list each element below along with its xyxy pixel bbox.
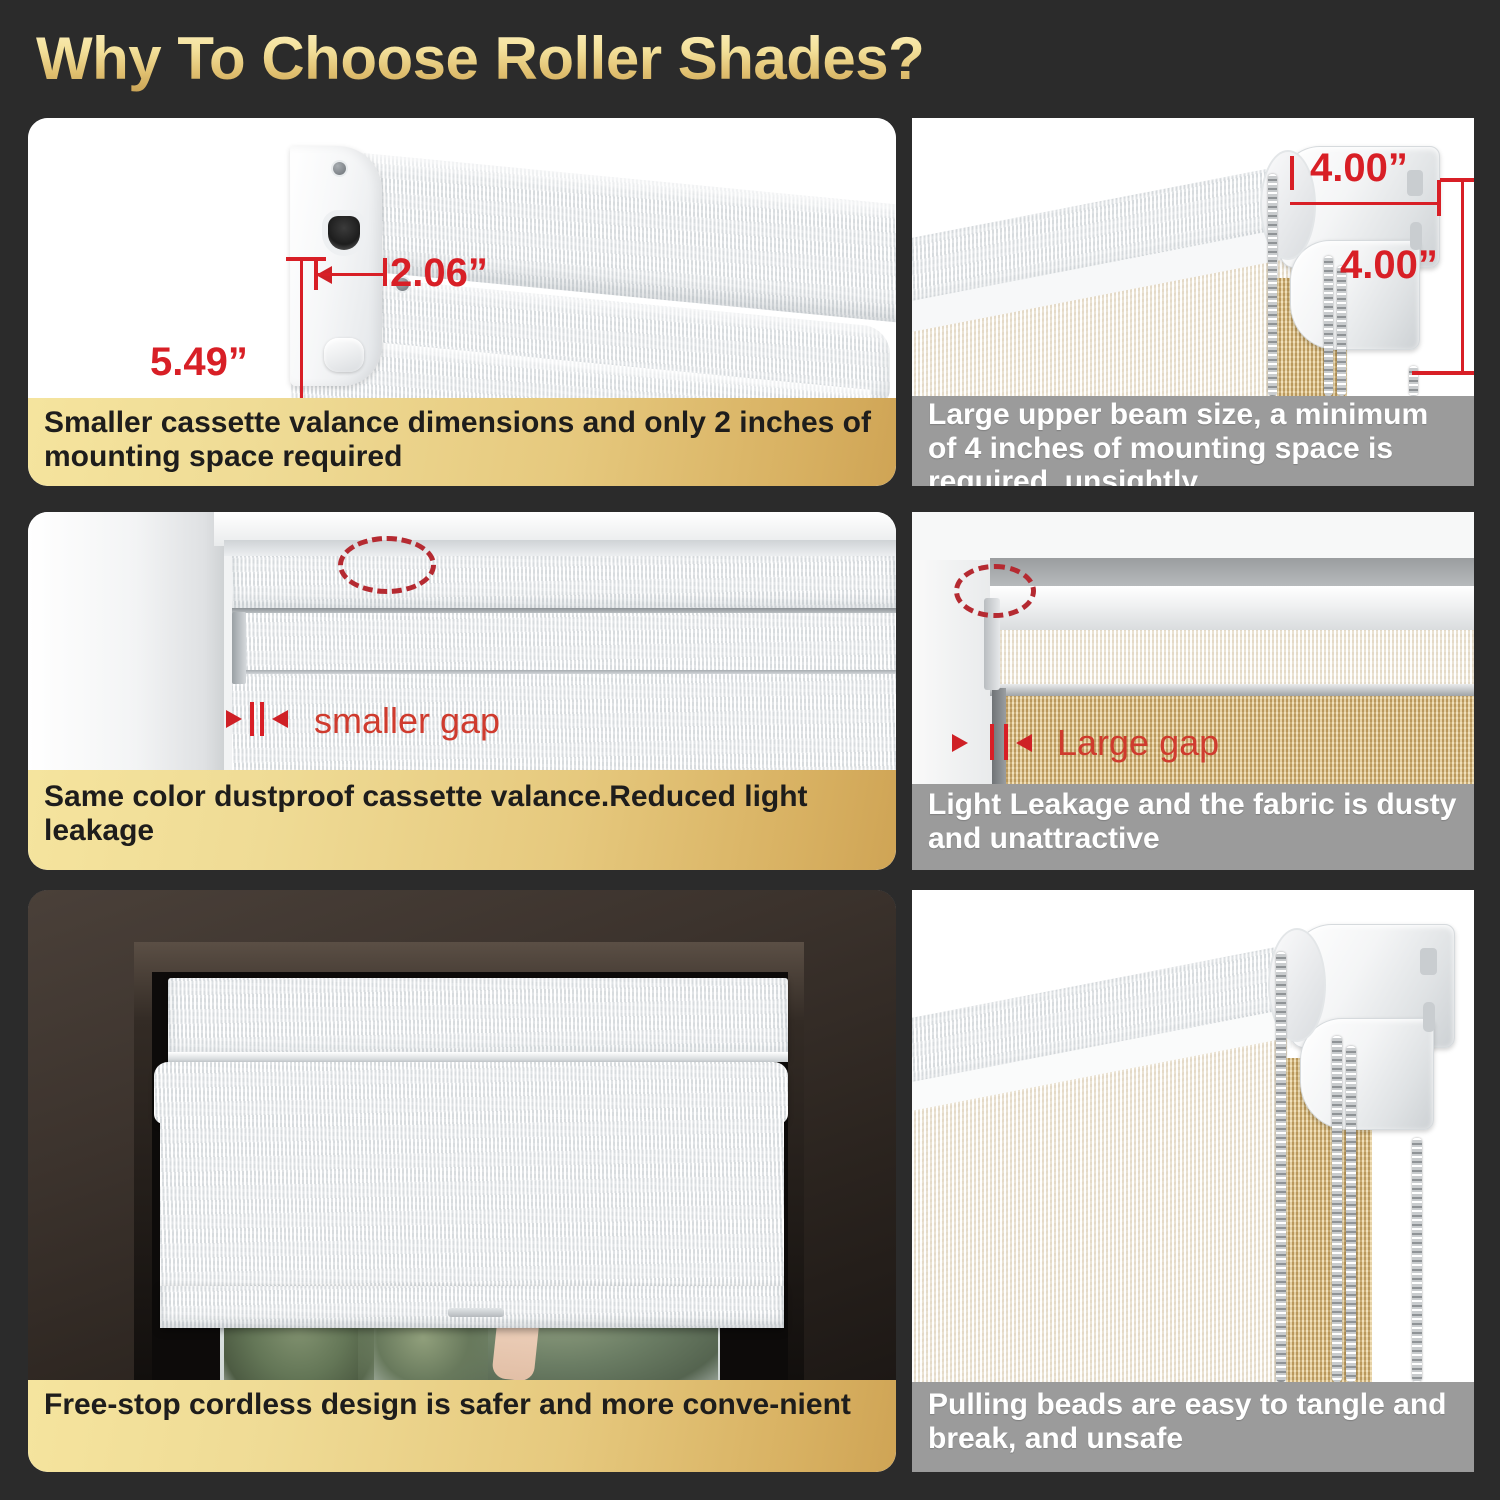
smaller-gap-label: smaller gap [314,700,500,742]
caption-pulling-beads: Pulling beads are easy to tangle and bre… [912,1382,1474,1472]
beam-dim-width-label: 4.00” [1310,146,1408,191]
leak-gap-arrow-left [952,734,968,752]
beads-bead-chain-2 [1332,1036,1342,1382]
window-frame-left [28,512,224,770]
valance-rail-mid [232,613,896,673]
leak-roller-tube [990,586,1474,634]
photo-dustproof-valance: smaller gap [28,512,896,770]
caption-large-upper-beam: Large upper beam size, a minimum of 4 in… [912,396,1474,486]
beads-bead-chain-4 [1412,1138,1422,1382]
beam-bead-chain-1 [1268,174,1277,396]
dim-width-tick-right [383,258,387,286]
beam-dim-height-tick-top [1440,178,1474,182]
gap-arrow-left [226,710,242,728]
dim-width-label: 2.06” [390,251,488,296]
leak-gap-tick-b [1004,724,1008,760]
shade-valance-cassette [168,978,788,1060]
beam-dim-height-label: 4.00” [1340,243,1438,288]
gap-tick-b [260,702,264,736]
valance-rail-top [232,556,896,608]
page-title: Why To Choose Roller Shades? [36,24,924,93]
beam-dim-width-tick-left [1290,156,1294,190]
beam-dim-width-tick-right [1437,180,1441,216]
photo-pulling-beads [912,890,1474,1382]
valance-bottom-bracket [324,338,364,372]
leak-cream-fabric [994,630,1474,688]
infographic-root: Why To Choose Roller Shades? 2.06” [0,0,1500,1500]
shade-bottom-rail [160,1286,784,1328]
caption-text: Pulling beads are easy to tangle and bre… [928,1388,1458,1455]
shade-roller-bar [154,1062,788,1124]
photo-large-upper-beam: 4.00” 4.00” [912,118,1474,396]
leak-gap-arrow-right [1016,734,1032,752]
beam-dim-height-line [1461,178,1464,374]
valance-clutch-slot [328,216,360,250]
large-gap-label: Large gap [1057,722,1219,764]
smaller-gap-highlight-ellipse [338,536,436,594]
caption-text: Smaller cassette valance dimensions and … [44,406,880,473]
beads-bead-chain-3 [1346,1046,1356,1382]
panel-large-upper-beam: 4.00” 4.00” Large upper beam size, a min… [912,118,1474,486]
caption-light-leakage: Light Leakage and the fabric is dusty an… [912,784,1474,870]
dim-width-line-extend [314,273,386,276]
photo-light-leakage: Large gap [912,512,1474,784]
caption-text: Large upper beam size, a minimum of 4 in… [928,398,1458,486]
valance-screw-top [333,162,346,175]
shade-fabric [160,1118,784,1294]
beam-bracket-slot-1 [1407,170,1423,196]
leak-ceiling [912,512,1474,560]
shade-bottom-handle [448,1308,504,1317]
caption-dustproof-cassette-valance: Same color dustproof cassette valance.Re… [28,770,896,870]
panel-light-leakage: Large gap Light Leakage and the fabric i… [912,512,1474,870]
caption-text: Same color dustproof cassette valance.Re… [44,780,880,847]
window-frame-inner-edge [224,540,896,556]
leak-gap-tick-a [990,724,994,760]
beads-mounting-bracket-lower [1300,1018,1434,1130]
beads-bracket-slot-2 [1423,1002,1435,1032]
photo-cassette-valance-dimensions: 2.06” 5.49” [28,118,896,403]
leak-bottom-bar [990,684,1474,696]
valance-left-bracket [232,612,246,684]
gap-tick-a [250,702,254,736]
dim-height-label: 5.49” [150,340,248,385]
panel-smaller-cassette-valance: 2.06” 5.49” Smaller cassette valance dim… [28,118,896,486]
panel-pulling-beads: Pulling beads are easy to tangle and bre… [912,890,1474,1472]
photo-free-stop-cordless [28,890,896,1380]
caption-free-stop-cordless: Free-stop cordless design is safer and m… [28,1380,896,1472]
beam-bead-chain-2 [1324,256,1333,396]
shade-valance-lip [168,1052,788,1062]
beam-dim-height-tick-bottom [1412,371,1474,375]
panel-free-stop-cordless: Free-stop cordless design is safer and m… [28,890,896,1472]
gap-arrow-right [272,710,288,728]
beam-dim-width-line [1290,202,1440,205]
dim-height-tick-top [286,257,326,261]
beads-bracket-slot-1 [1420,948,1437,975]
beads-bead-chain-1 [1276,952,1286,1382]
caption-smaller-cassette-valance: Smaller cassette valance dimensions and … [28,398,896,486]
large-gap-highlight-ellipse [954,564,1036,618]
caption-text: Light Leakage and the fabric is dusty an… [928,788,1458,855]
dim-height-line [300,258,303,403]
caption-text: Free-stop cordless design is safer and m… [44,1388,880,1422]
panel-dustproof-cassette-valance: smaller gap Same color dustproof cassett… [28,512,896,870]
